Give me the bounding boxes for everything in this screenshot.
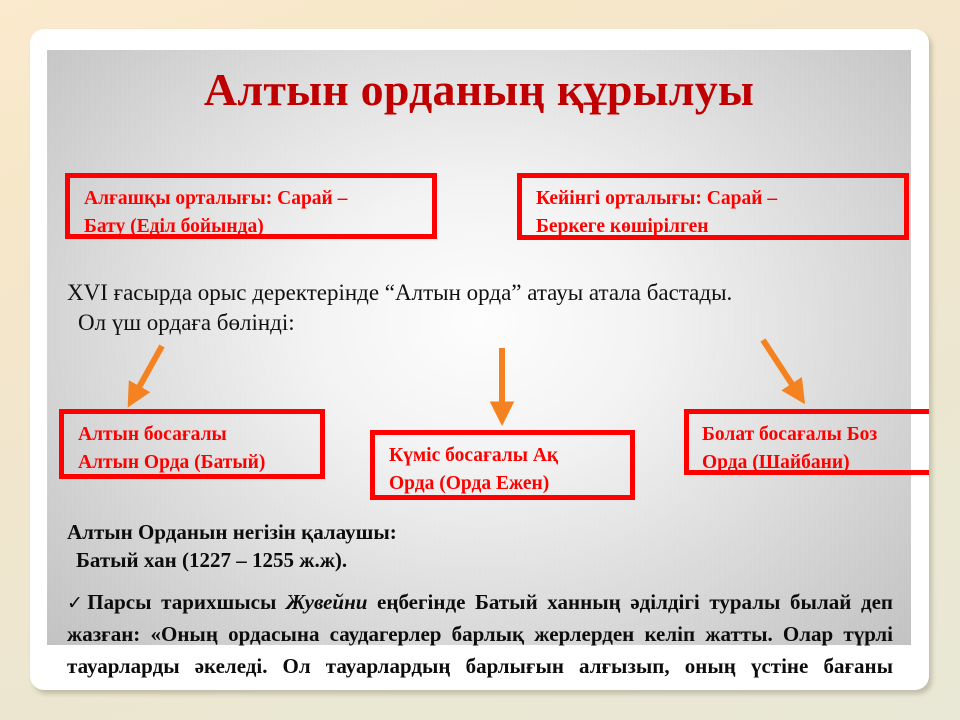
callout-first-capital-line1: Алғашқы орталығы: Сарай –: [84, 185, 432, 213]
callout-white-horde-line1: Күміс босағалы Ақ: [389, 442, 630, 470]
callout-later-capital-line1: Кейінгі орталығы: Сарай –: [536, 185, 904, 213]
quote-paragraph: ✓Парсы тарихшысы Жувейни еңбегінде Батый…: [67, 587, 893, 690]
callout-blue-horde-line2: Орда (Шайбани): [702, 449, 929, 477]
callout-first-capital: Алғашқы орталығы: Сарай – Бату (Еділ бой…: [65, 173, 437, 239]
slide-content-panel: Алтын орданың құрылуы Алғашқы орталығы: …: [47, 50, 911, 645]
page-title: Алтын орданың құрылуы: [47, 66, 911, 114]
founder-line-1: Алтын Орданын негізін қалаушы:: [67, 518, 893, 546]
callout-white-horde: Күміс босағалы Ақ Орда (Орда Ежен): [370, 430, 635, 500]
callout-golden-horde: Алтын босағалы Алтын Орда (Батый): [59, 409, 325, 479]
intro-line-1: XVI ғасырда орыс деректерінде “Алтын орд…: [67, 278, 897, 308]
callout-blue-horde-line1: Болат босағалы Боз: [702, 421, 929, 449]
callout-white-horde-line2: Орда (Орда Ежен): [389, 470, 630, 498]
quote-part-1: Парсы тарихшысы: [87, 590, 286, 614]
intro-line-2: Ол үш ордаға бөлінді:: [67, 308, 897, 338]
founder-line-2: Батый хан (1227 – 1255 ж.ж).: [67, 546, 893, 574]
callout-later-capital-line2: Беркеге көшірілген: [536, 213, 904, 241]
founder-block: Алтын Орданын негізін қалаушы: Батый хан…: [67, 518, 893, 575]
intro-paragraph: XVI ғасырда орыс деректерінде “Алтын орд…: [67, 278, 897, 339]
callout-golden-horde-line2: Алтын Орда (Батый): [78, 449, 320, 477]
callout-golden-horde-line1: Алтын босағалы: [78, 421, 320, 449]
callout-first-capital-line2: Бату (Еділ бойында): [84, 213, 432, 241]
checkmark-icon: ✓: [67, 593, 87, 614]
arrow-to-golden-horde: [133, 346, 162, 398]
arrow-to-blue-horde: [763, 340, 799, 395]
callout-later-capital: Кейінгі орталығы: Сарай – Беркеге көшірі…: [517, 173, 909, 240]
slide: Алтын орданың құрылуы Алғашқы орталығы: …: [30, 29, 929, 690]
quote-historian-name: Жувейни: [286, 590, 367, 614]
callout-blue-horde: Болат босағалы Боз Орда (Шайбани): [684, 409, 929, 475]
